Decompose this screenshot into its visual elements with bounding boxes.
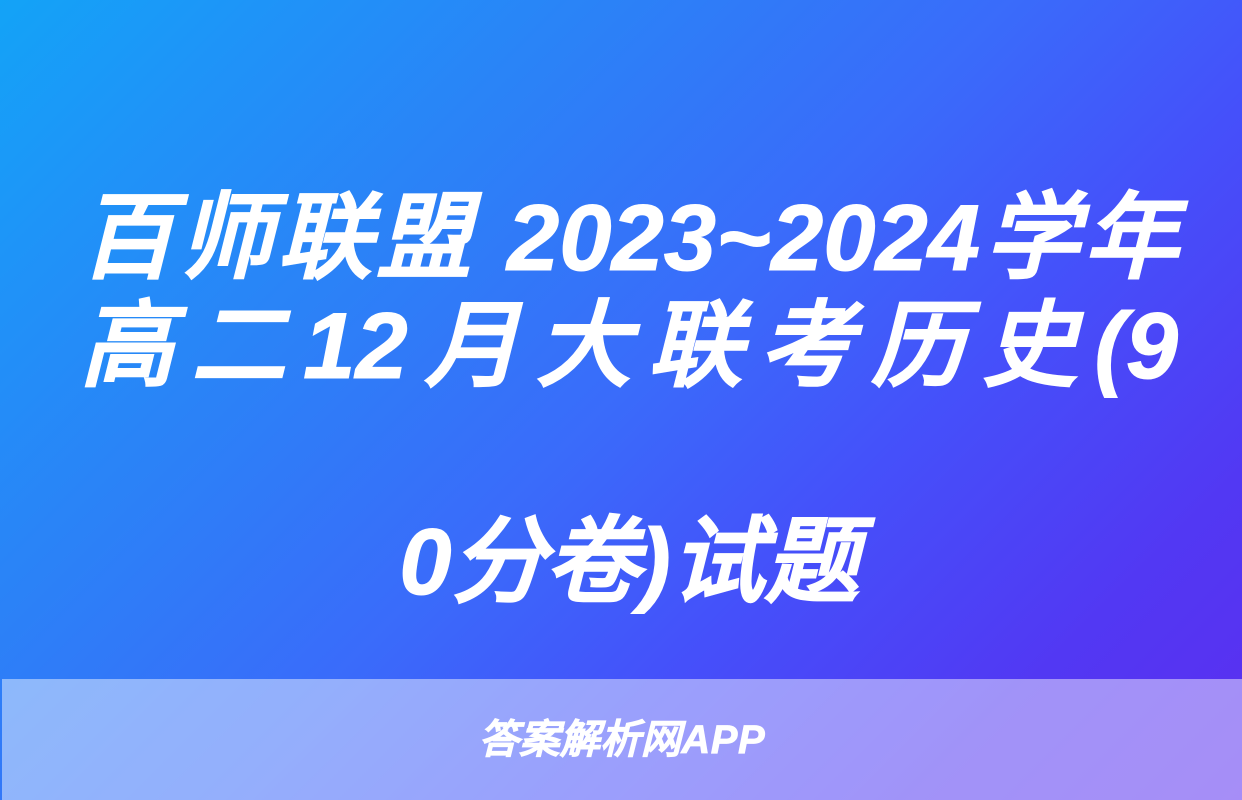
- footer-band: 答案解析网APP: [2, 679, 1242, 800]
- poster-title-block: 百师联盟 2023~2024学年高二12月大联考历史(9 0分卷)试题: [80, 184, 1178, 614]
- page-title-last-line: 0分卷)试题: [80, 508, 1178, 616]
- poster-canvas: 百师联盟 2023~2024学年高二12月大联考历史(9 0分卷)试题 答案解析…: [0, 0, 1242, 800]
- app-watermark-label: 答案解析网APP: [479, 720, 765, 760]
- page-title: 百师联盟 2023~2024学年高二12月大联考历史(9: [80, 184, 1178, 508]
